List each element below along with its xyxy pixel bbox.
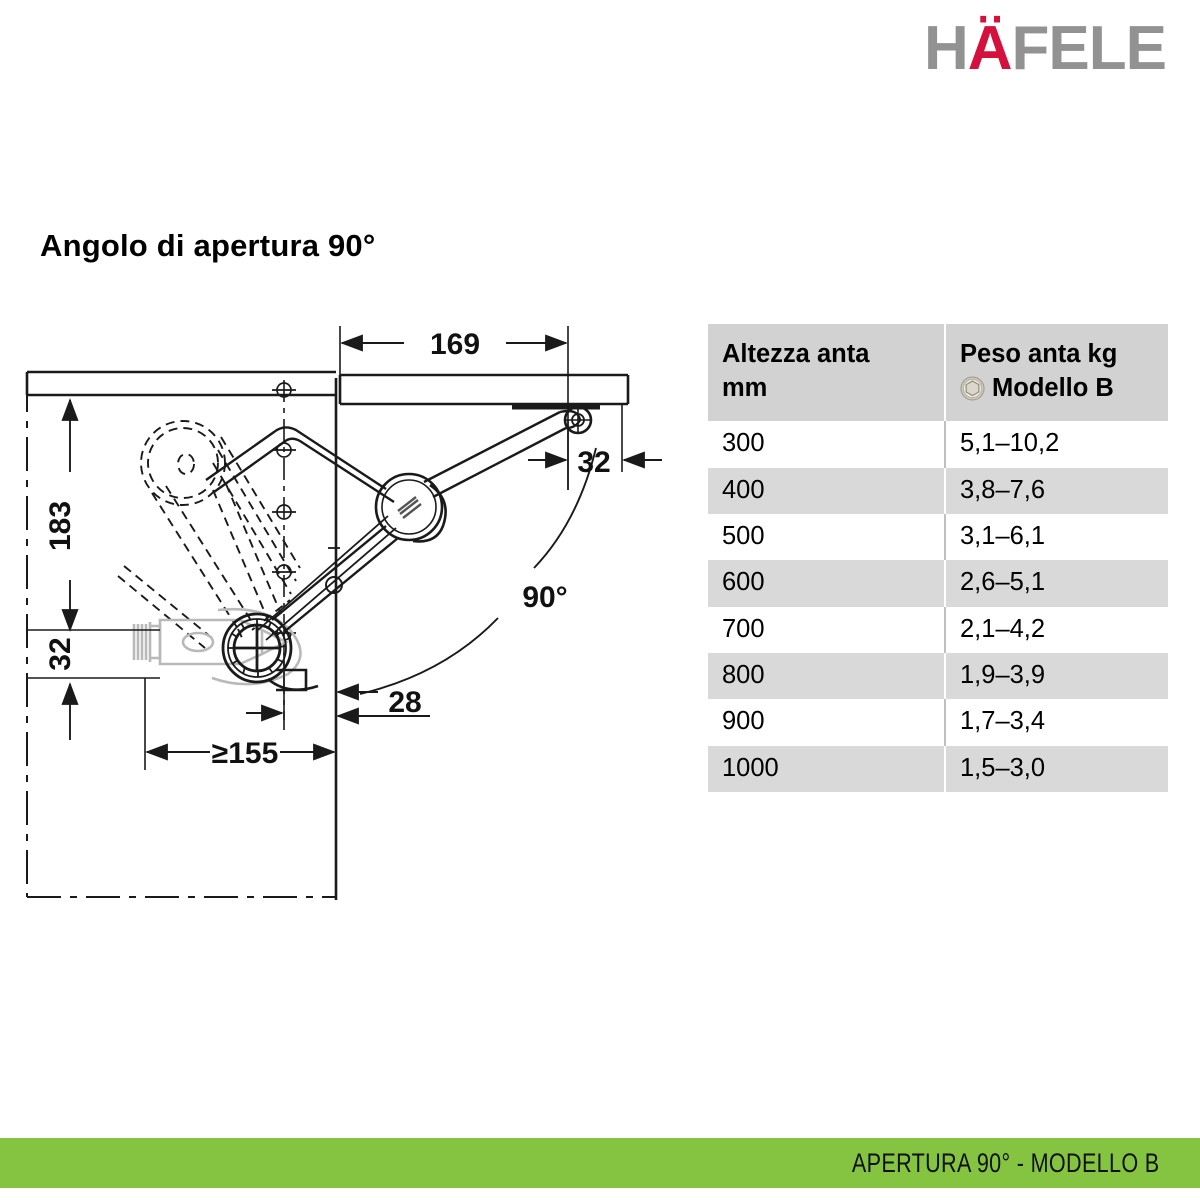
page-title: Angolo di apertura 90°	[40, 228, 375, 264]
dim-32-left-label: 32	[44, 637, 77, 670]
cell-weight: 1,7–3,4	[945, 699, 1168, 745]
lift-mechanism-arms	[206, 407, 591, 690]
dim-183-label: 183	[44, 501, 77, 551]
logo-letters-fele: FELE	[1012, 14, 1166, 83]
opening-angle-arc	[360, 448, 596, 694]
logo-wordmark: HÄFELE	[924, 18, 1166, 80]
flap-specification-table: Altezza anta mm Peso anta kg Modello B 3…	[708, 324, 1168, 792]
table-row: 500 3,1–6,1	[708, 514, 1168, 560]
cell-height: 600	[708, 560, 945, 606]
cell-height: 1000	[708, 746, 945, 792]
cell-weight: 2,6–5,1	[945, 560, 1168, 606]
dim-169-label: 169	[430, 328, 480, 361]
header-peso-line1: Peso anta kg	[960, 338, 1168, 372]
table-row: 400 3,8–7,6	[708, 468, 1168, 514]
header-altezza-line1: Altezza anta	[722, 338, 944, 372]
header-peso-anta: Peso anta kg Modello B	[945, 324, 1168, 421]
ring-washer-icon	[960, 376, 985, 401]
header-altezza-line2: mm	[722, 372, 944, 406]
cell-height: 900	[708, 699, 945, 745]
logo-letter-a-umlaut: Ä	[968, 14, 1012, 83]
cell-height: 400	[708, 468, 945, 514]
cell-height: 800	[708, 653, 945, 699]
cell-weight: 5,1–10,2	[945, 421, 1168, 467]
dim-32-left	[27, 678, 160, 740]
header-altezza-anta: Altezza anta mm	[708, 324, 945, 421]
header-modello-b: Modello B	[992, 372, 1114, 406]
pivot-brand-mark	[398, 497, 421, 518]
cell-weight: 1,9–3,9	[945, 653, 1168, 699]
dim-32-right-label: 32	[577, 446, 610, 479]
flap-door	[340, 375, 628, 407]
footer-bar: APERTURA 90° - MODELLO B	[0, 1138, 1200, 1188]
dim-155-label: ≥155	[212, 737, 279, 770]
footer-label: APERTURA 90° - MODELLO B	[852, 1148, 1200, 1179]
cell-weight: 3,8–7,6	[945, 468, 1168, 514]
table-header-row: Altezza anta mm Peso anta kg Modello B	[708, 324, 1168, 421]
dimension-lines	[27, 326, 662, 770]
cell-height: 700	[708, 607, 945, 653]
table-row: 1000 1,5–3,0	[708, 746, 1168, 792]
technical-drawing: 169 32 183 32 ≥155 28 90°	[0, 300, 690, 940]
drawing-svg: 169 32 183 32 ≥155 28 90°	[0, 300, 690, 940]
cell-weight: 1,5–3,0	[945, 746, 1168, 792]
table-row: 900 1,7–3,4	[708, 699, 1168, 745]
table-row: 300 5,1–10,2	[708, 421, 1168, 467]
table-row: 800 1,9–3,9	[708, 653, 1168, 699]
dim-angle-label: 90°	[522, 581, 567, 614]
dim-28-label: 28	[388, 686, 421, 719]
cell-weight: 3,1–6,1	[945, 514, 1168, 560]
table-row: 700 2,1–4,2	[708, 607, 1168, 653]
table-row: 600 2,6–5,1	[708, 560, 1168, 606]
phantom-linkage	[118, 421, 300, 648]
cell-height: 300	[708, 421, 945, 467]
cell-height: 500	[708, 514, 945, 560]
hafele-logo: HÄFELE	[826, 14, 1166, 84]
logo-letter-h: H	[924, 14, 968, 83]
table-body: 300 5,1–10,2 400 3,8–7,6 500 3,1–6,1 600…	[708, 421, 1168, 792]
cell-weight: 2,1–4,2	[945, 607, 1168, 653]
